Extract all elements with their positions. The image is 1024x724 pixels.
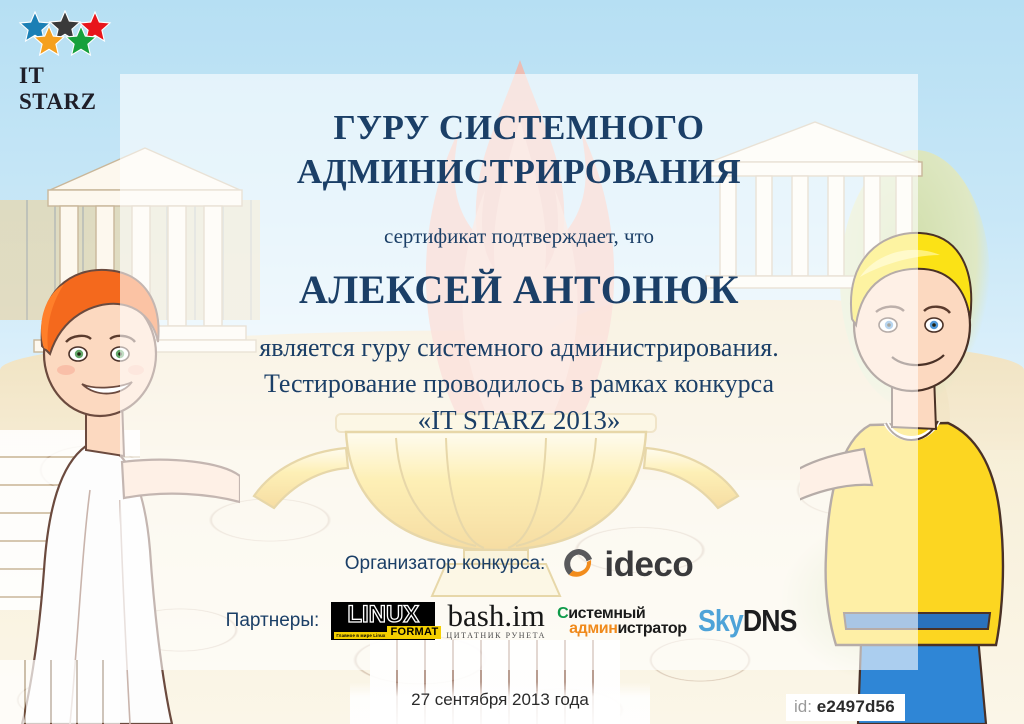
organizer-label: Организатор конкурса: — [345, 553, 546, 575]
recipient-name: АЛЕКСЕЙ АНТОНЮК — [120, 266, 918, 313]
partner-logo-linux-format[interactable]: LINUX Главное в мире Linux FORMAT — [331, 602, 435, 640]
partner-logo-sistemny-administrator[interactable]: Системный администратор — [557, 606, 687, 636]
skydns-part1: Sky — [698, 603, 743, 638]
certificate-content: ГУРУ СИСТЕМНОГО АДМИНИСТРИРОВАНИЯ сертиф… — [120, 74, 918, 670]
partners-label: Партнеры: — [226, 610, 320, 632]
ideco-logo[interactable]: ideco — [561, 546, 693, 582]
ideco-swoosh-icon — [561, 546, 597, 582]
partner-logo-bash-im[interactable]: bash.im ЦИТАТНИК РУНЕТА — [446, 602, 546, 640]
sysadmin-line2-rest: истратор — [617, 620, 686, 637]
sysadmin-line1-accent: С — [557, 605, 568, 622]
certificate-id-value: e2497d56 — [817, 697, 895, 716]
certificate-body-line2: Тестирование проводилось в рамках конкур… — [120, 366, 918, 402]
linux-format-tagline: Главное в мире Linux — [334, 632, 387, 639]
certificate-body: является гуру системного администрирован… — [120, 330, 918, 438]
certificate-date: 27 сентября 2013 года — [350, 690, 650, 710]
ideco-wordmark: ideco — [604, 547, 693, 582]
brand-logo-text: IT STARZ — [19, 63, 124, 115]
background-pillars-left — [0, 660, 120, 724]
bash-im-main: bash.im — [446, 602, 546, 630]
linux-format-sub: FORMAT — [387, 626, 441, 639]
partners-row: Партнеры: LINUX Главное в мире Linux FOR… — [120, 602, 918, 640]
certificate-body-line3: «IT STARZ 2013» — [120, 402, 918, 438]
certificate-id-label: id: — [794, 697, 812, 716]
certificate-title: ГУРУ СИСТЕМНОГО АДМИНИСТРИРОВАНИЯ — [120, 106, 918, 194]
bash-im-sub: ЦИТАТНИК РУНЕТА — [446, 631, 546, 640]
sysadmin-line2-accent: админ — [569, 620, 617, 637]
certificate-title-line2: АДМИНИСТРИРОВАНИЯ — [120, 150, 918, 194]
brand-logo[interactable]: IT STARZ — [14, 10, 124, 92]
certificate-subtitle: сертификат подтверждает, что — [120, 224, 918, 249]
skydns-part2: DNS — [743, 603, 797, 638]
organizer-row: Организатор конкурса: ideco — [120, 546, 918, 582]
certificate-id-badge: id: e2497d56 — [786, 694, 905, 721]
partner-logo-skydns[interactable]: SkyDNS — [698, 606, 797, 636]
five-stars-icon — [18, 10, 114, 56]
linux-format-main: LINUX — [334, 604, 432, 626]
certificate-page: IT STARZ ГУРУ СИСТЕМНОГО АДМИНИСТРИРОВАН… — [0, 0, 1024, 724]
certificate-title-line1: ГУРУ СИСТЕМНОГО — [120, 106, 918, 150]
certificate-body-line1: является гуру системного администрирован… — [120, 330, 918, 366]
partner-logo-list: LINUX Главное в мире Linux FORMAT bash.i… — [331, 602, 812, 640]
